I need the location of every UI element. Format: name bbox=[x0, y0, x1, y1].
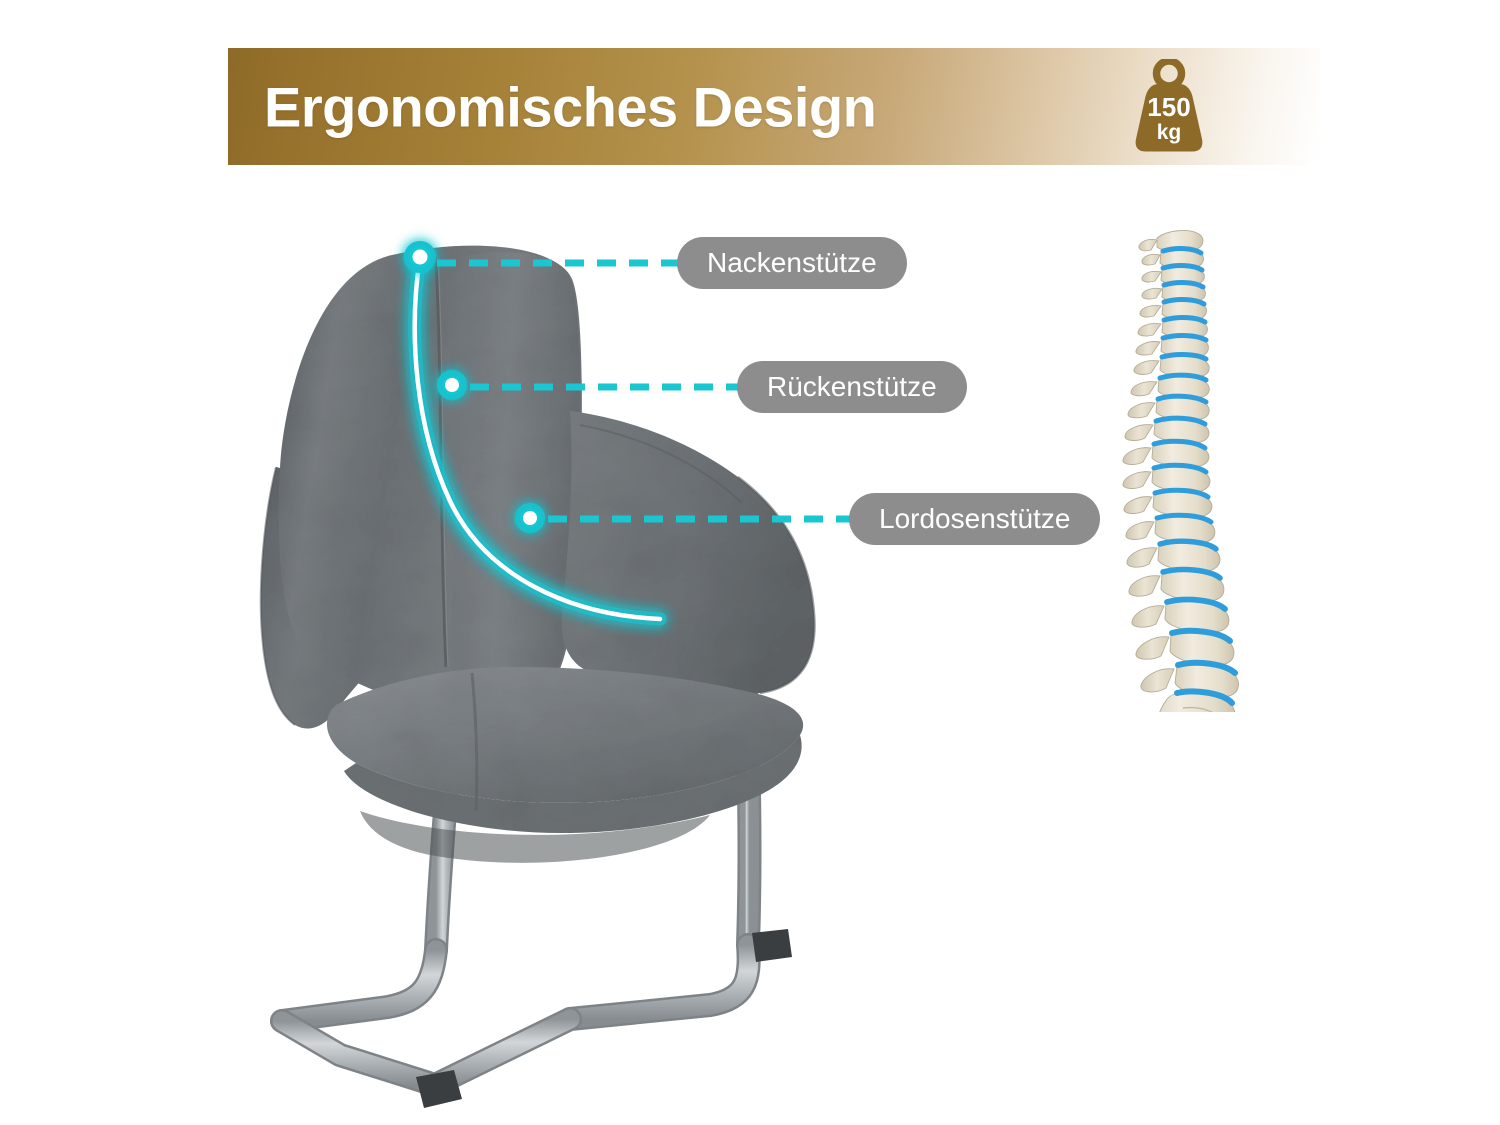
marker-neck bbox=[406, 243, 434, 271]
callout-label: Lordosenstütze bbox=[879, 503, 1070, 535]
header-banner: Ergonomisches Design 150 kg bbox=[228, 48, 1320, 165]
callout-neck-support[interactable]: Nackenstütze bbox=[677, 237, 907, 289]
vertebrae-column bbox=[1123, 231, 1239, 712]
chair-right-arm bbox=[562, 411, 815, 696]
callout-back-support[interactable]: Rückenstütze bbox=[737, 361, 967, 413]
marker-back bbox=[439, 372, 465, 398]
callout-label: Rückenstütze bbox=[767, 371, 937, 403]
marker-lumbar bbox=[517, 505, 543, 531]
weight-unit: kg bbox=[1157, 121, 1182, 144]
infographic-page: Ergonomisches Design 150 kg bbox=[0, 0, 1500, 1125]
page-title: Ergonomisches Design bbox=[264, 74, 876, 139]
weight-capacity-badge: 150 kg bbox=[1130, 59, 1208, 155]
callout-label: Nackenstütze bbox=[707, 247, 877, 279]
weight-value: 150 bbox=[1147, 92, 1190, 122]
chair-illustration bbox=[240, 215, 860, 1045]
spine-illustration bbox=[1105, 222, 1265, 712]
callout-lumbar-support[interactable]: Lordosenstütze bbox=[849, 493, 1100, 545]
